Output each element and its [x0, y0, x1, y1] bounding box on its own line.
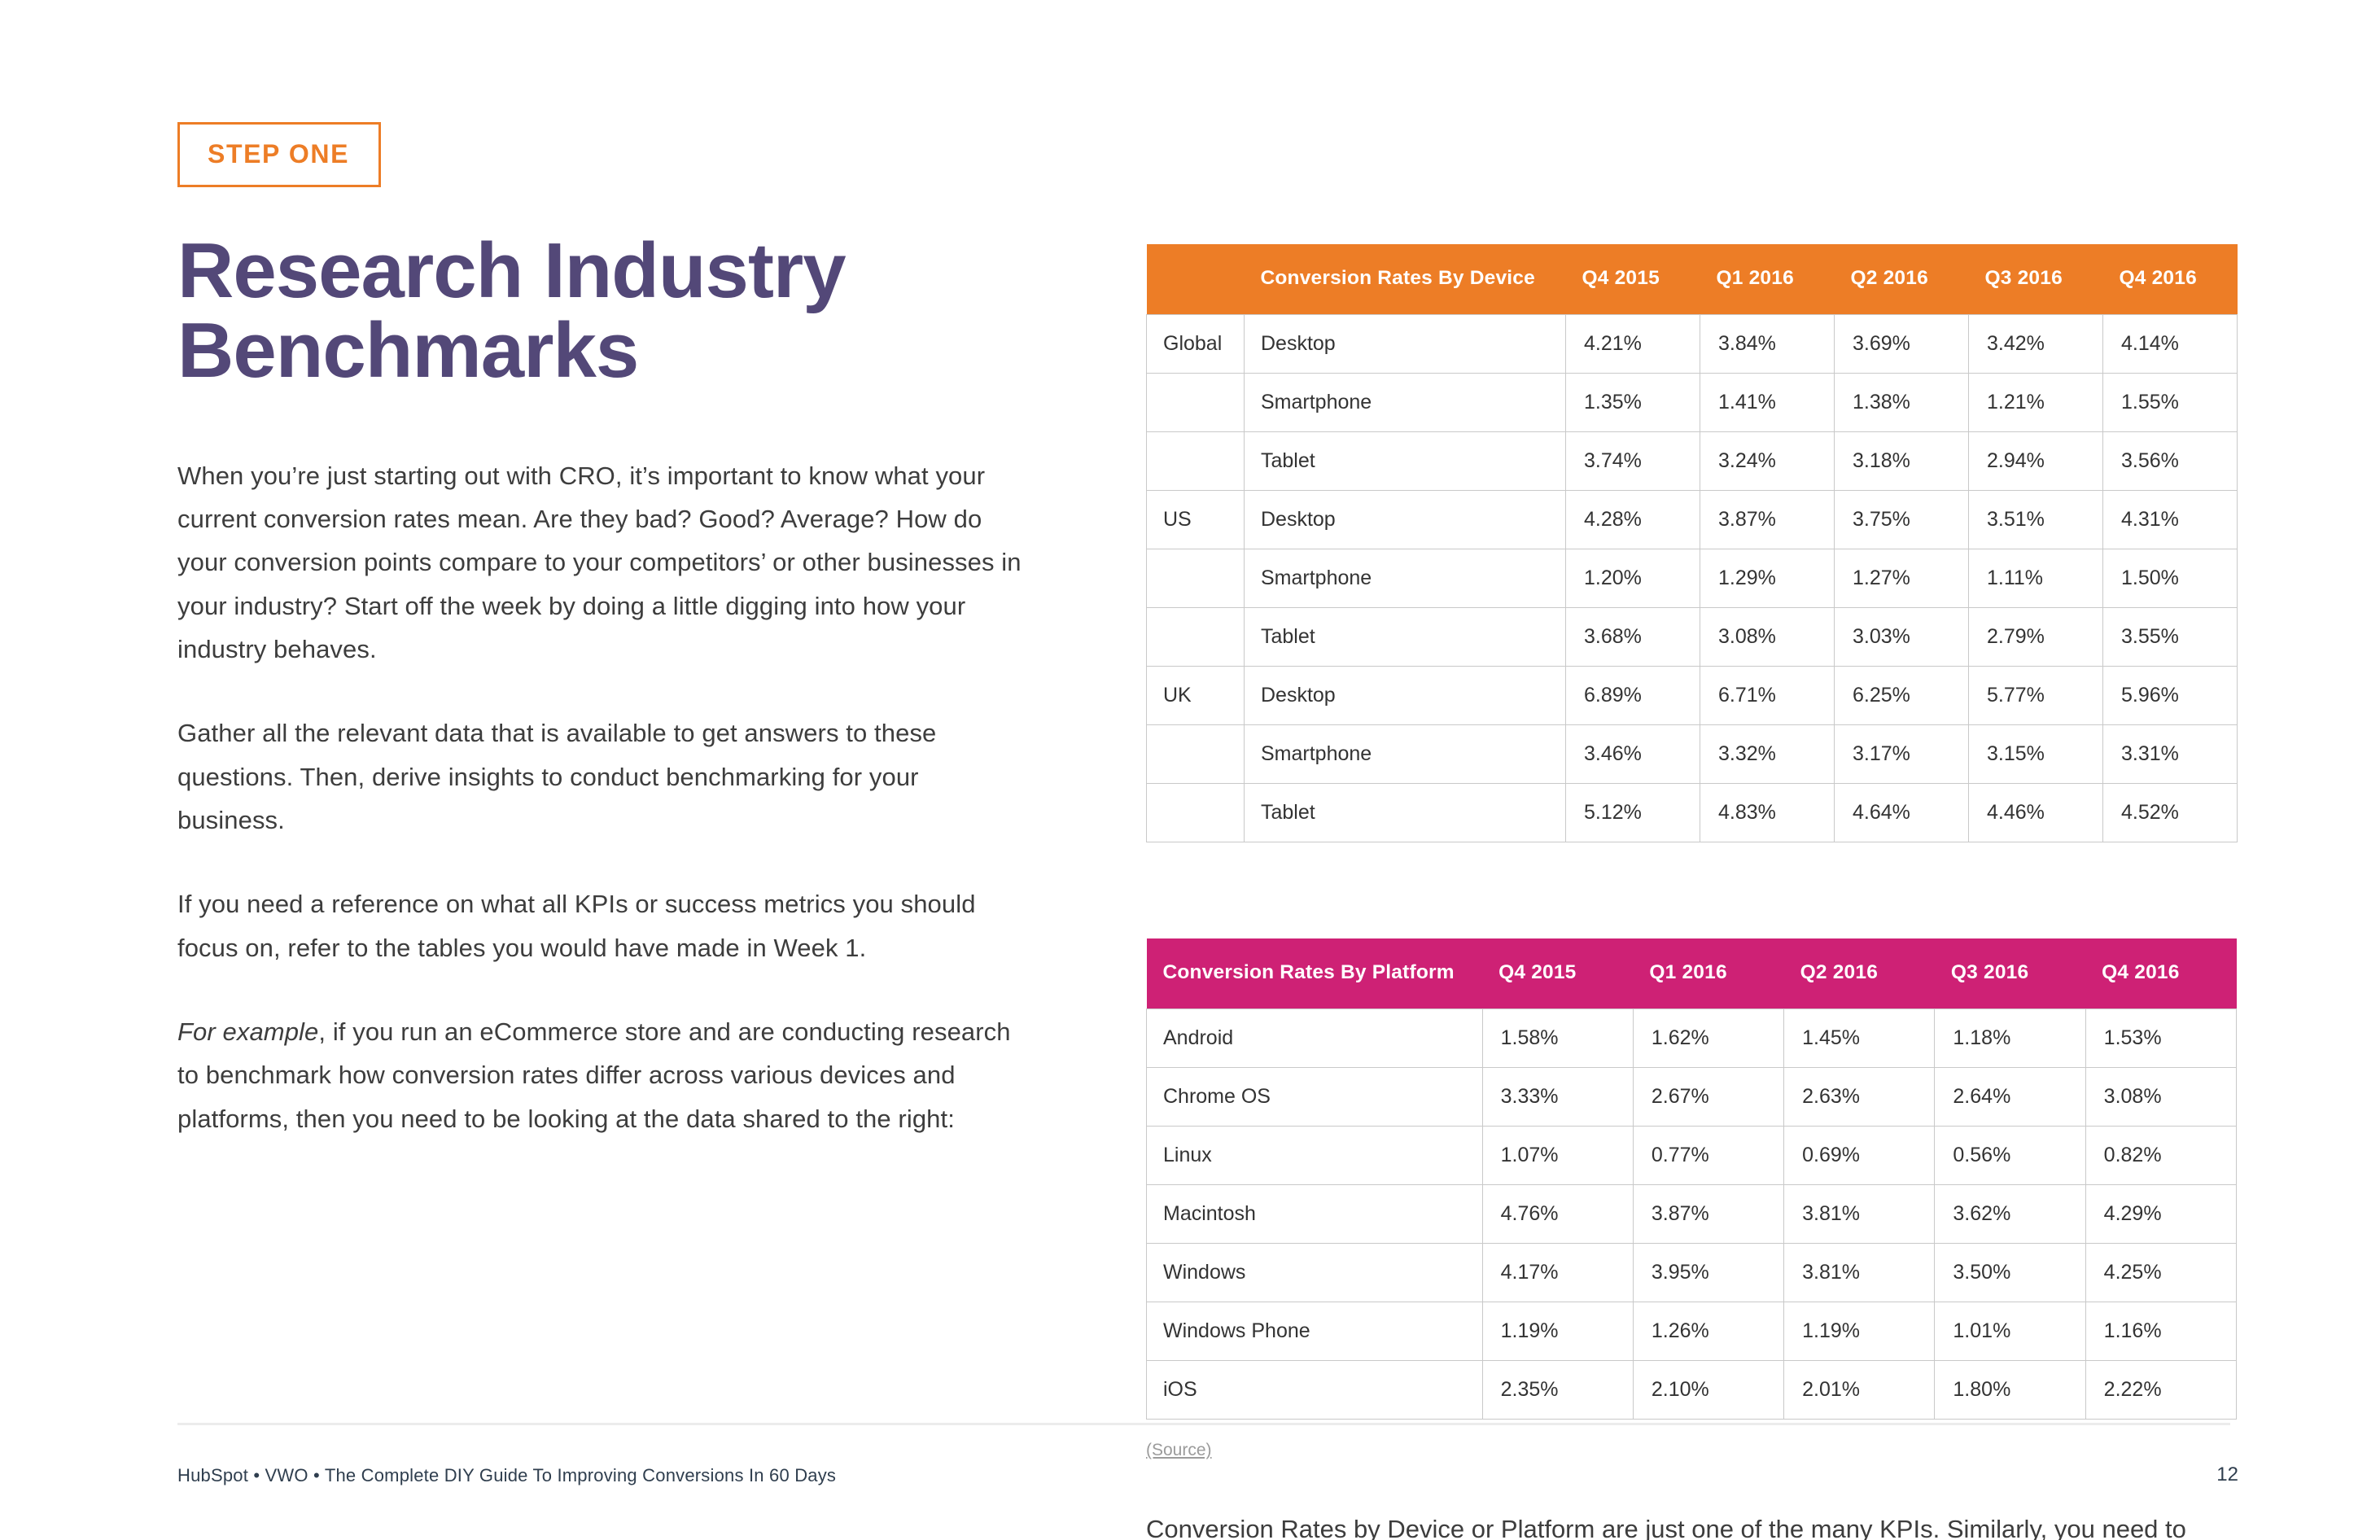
cell-value: 2.94% [1969, 432, 2103, 491]
cell-value: 5.96% [2103, 667, 2238, 725]
conversion-rates-by-device-table: Conversion Rates By Device Q4 2015 Q1 20… [1146, 244, 2238, 842]
table-row: Macintosh 4.76% 3.87% 3.81% 3.62% 4.29% [1147, 1185, 2237, 1244]
table-row: Android 1.58% 1.62% 1.45% 1.18% 1.53% [1147, 1009, 2237, 1068]
body-paragraph-1: When you’re just starting out with CRO, … [177, 454, 1032, 672]
cell-value: 2.35% [1482, 1361, 1633, 1420]
cell-value: 3.03% [1835, 608, 1969, 667]
cell-value: 4.28% [1566, 491, 1700, 549]
cell-device: Smartphone [1245, 549, 1566, 608]
cell-value: 2.64% [1935, 1068, 2085, 1127]
cell-value: 0.82% [2085, 1127, 2236, 1185]
cell-device: Desktop [1245, 315, 1566, 374]
cell-value: 5.77% [1969, 667, 2103, 725]
table-row: Windows 4.17% 3.95% 3.81% 3.50% 4.25% [1147, 1244, 2237, 1302]
cell-value: 1.41% [1700, 374, 1835, 432]
cell-device: Tablet [1245, 608, 1566, 667]
cell-value: 3.17% [1835, 725, 1969, 784]
cell-value: 1.53% [2085, 1009, 2236, 1068]
cell-value: 3.55% [2103, 608, 2238, 667]
table-row: iOS 2.35% 2.10% 2.01% 1.80% 2.22% [1147, 1361, 2237, 1420]
cell-value: 3.87% [1633, 1185, 1783, 1244]
cell-value: 3.95% [1633, 1244, 1783, 1302]
cell-platform: iOS [1147, 1361, 1483, 1420]
device-table-header-q2-2016: Q2 2016 [1835, 244, 1969, 315]
cell-value: 3.69% [1835, 315, 1969, 374]
cell-value: 4.29% [2085, 1185, 2236, 1244]
platform-table-header-q3-2016: Q3 2016 [1935, 938, 2085, 1009]
cell-value: 4.14% [2103, 315, 2238, 374]
cell-value: 3.33% [1482, 1068, 1633, 1127]
table-row: Smartphone 1.20% 1.29% 1.27% 1.11% 1.50% [1147, 549, 2238, 608]
cell-value: 3.84% [1700, 315, 1835, 374]
table-header-row: Conversion Rates By Platform Q4 2015 Q1 … [1147, 938, 2237, 1009]
cell-region [1147, 432, 1245, 491]
cell-region [1147, 725, 1245, 784]
cell-value: 3.24% [1700, 432, 1835, 491]
cell-value: 1.19% [1482, 1302, 1633, 1361]
cell-value: 3.51% [1969, 491, 2103, 549]
cell-value: 1.38% [1835, 374, 1969, 432]
cell-value: 3.50% [1935, 1244, 2085, 1302]
step-badge: STEP ONE [177, 122, 381, 187]
platform-table-header-title: Conversion Rates By Platform [1147, 938, 1483, 1009]
cell-value: 1.35% [1566, 374, 1700, 432]
cell-platform: Windows Phone [1147, 1302, 1483, 1361]
table-row: US Desktop 4.28% 3.87% 3.75% 3.51% 4.31% [1147, 491, 2238, 549]
cell-platform: Android [1147, 1009, 1483, 1068]
cell-value: 6.71% [1700, 667, 1835, 725]
table-row: Chrome OS 3.33% 2.67% 2.63% 2.64% 3.08% [1147, 1068, 2237, 1127]
cell-value: 4.17% [1482, 1244, 1633, 1302]
cell-value: 1.19% [1784, 1302, 1935, 1361]
cell-value: 3.08% [1700, 608, 1835, 667]
left-content-column: STEP ONE Research Industry Benchmarks Wh… [177, 122, 1032, 1140]
cell-device: Tablet [1245, 432, 1566, 491]
table-row: Tablet 5.12% 4.83% 4.64% 4.46% 4.52% [1147, 784, 2238, 842]
device-table-header-blank [1147, 244, 1245, 315]
conversion-rates-by-platform-table: Conversion Rates By Platform Q4 2015 Q1 … [1146, 938, 2237, 1420]
cell-value: 1.26% [1633, 1302, 1783, 1361]
table-row: Smartphone 3.46% 3.32% 3.17% 3.15% 3.31% [1147, 725, 2238, 784]
cell-value: 0.56% [1935, 1127, 2085, 1185]
body-paragraph-4: For example, if you run an eCommerce sto… [177, 1010, 1032, 1140]
table-row: UK Desktop 6.89% 6.71% 6.25% 5.77% 5.96% [1147, 667, 2238, 725]
cell-device: Desktop [1245, 667, 1566, 725]
cell-value: 6.25% [1835, 667, 1969, 725]
cell-value: 3.42% [1969, 315, 2103, 374]
page-title: Research Industry Benchmarks [177, 231, 991, 391]
cell-device: Smartphone [1245, 725, 1566, 784]
cell-value: 1.01% [1935, 1302, 2085, 1361]
cell-value: 1.29% [1700, 549, 1835, 608]
document-page: STEP ONE Research Industry Benchmarks Wh… [0, 0, 2380, 1540]
table-row: Smartphone 1.35% 1.41% 1.38% 1.21% 1.55% [1147, 374, 2238, 432]
platform-table-header-q1-2016: Q1 2016 [1633, 938, 1783, 1009]
cell-value: 0.77% [1633, 1127, 1783, 1185]
cell-platform: Macintosh [1147, 1185, 1483, 1244]
cell-value: 3.15% [1969, 725, 2103, 784]
cell-device: Tablet [1245, 784, 1566, 842]
cell-value: 1.20% [1566, 549, 1700, 608]
cell-value: 1.55% [2103, 374, 2238, 432]
table-row: Global Desktop 4.21% 3.84% 3.69% 3.42% 4… [1147, 315, 2238, 374]
cell-region: Global [1147, 315, 1245, 374]
cell-region [1147, 374, 1245, 432]
cell-value: 3.62% [1935, 1185, 2085, 1244]
cell-platform: Windows [1147, 1244, 1483, 1302]
device-table-header-q3-2016: Q3 2016 [1969, 244, 2103, 315]
cell-value: 3.75% [1835, 491, 1969, 549]
cell-value: 2.67% [1633, 1068, 1783, 1127]
closing-paragraph: Conversion Rates by Device or Platform a… [1146, 1507, 2229, 1540]
cell-value: 1.62% [1633, 1009, 1783, 1068]
cell-value: 1.27% [1835, 549, 1969, 608]
device-table-header-q4-2016: Q4 2016 [2103, 244, 2238, 315]
cell-region [1147, 784, 1245, 842]
platform-table-header-q4-2016: Q4 2016 [2085, 938, 2236, 1009]
cell-value: 4.52% [2103, 784, 2238, 842]
cell-value: 1.50% [2103, 549, 2238, 608]
cell-value: 1.21% [1969, 374, 2103, 432]
cell-platform: Linux [1147, 1127, 1483, 1185]
cell-value: 0.69% [1784, 1127, 1935, 1185]
source-link[interactable]: (Source) [1146, 1441, 1212, 1460]
cell-value: 1.11% [1969, 549, 2103, 608]
table-row: Linux 1.07% 0.77% 0.69% 0.56% 0.82% [1147, 1127, 2237, 1185]
table-header-row: Conversion Rates By Device Q4 2015 Q1 20… [1147, 244, 2238, 315]
cell-device: Smartphone [1245, 374, 1566, 432]
cell-region: US [1147, 491, 1245, 549]
device-table-header-q4-2015: Q4 2015 [1566, 244, 1700, 315]
cell-value: 3.31% [2103, 725, 2238, 784]
cell-value: 6.89% [1566, 667, 1700, 725]
cell-value: 3.46% [1566, 725, 1700, 784]
cell-value: 2.22% [2085, 1361, 2236, 1420]
cell-region: UK [1147, 667, 1245, 725]
cell-value: 1.58% [1482, 1009, 1633, 1068]
cell-value: 3.08% [2085, 1068, 2236, 1127]
page-number: 12 [2190, 1463, 2238, 1486]
cell-value: 1.45% [1784, 1009, 1935, 1068]
page-title-line-2: Benchmarks [177, 311, 991, 391]
cell-value: 3.56% [2103, 432, 2238, 491]
cell-value: 3.74% [1566, 432, 1700, 491]
cell-value: 4.25% [2085, 1244, 2236, 1302]
cell-value: 3.81% [1784, 1244, 1935, 1302]
cell-region [1147, 549, 1245, 608]
cell-value: 1.18% [1935, 1009, 2085, 1068]
cell-value: 4.46% [1969, 784, 2103, 842]
cell-platform: Chrome OS [1147, 1068, 1483, 1127]
table-row: Windows Phone 1.19% 1.26% 1.19% 1.01% 1.… [1147, 1302, 2237, 1361]
table-row: Tablet 3.68% 3.08% 3.03% 2.79% 3.55% [1147, 608, 2238, 667]
cell-value: 2.01% [1784, 1361, 1935, 1420]
right-content-column: Conversion Rates By Device Q4 2015 Q1 20… [1146, 244, 2237, 1540]
cell-device: Desktop [1245, 491, 1566, 549]
device-table-header-title: Conversion Rates By Device [1245, 244, 1566, 315]
cell-value: 5.12% [1566, 784, 1700, 842]
cell-value: 1.07% [1482, 1127, 1633, 1185]
cell-value: 3.68% [1566, 608, 1700, 667]
cell-value: 2.63% [1784, 1068, 1935, 1127]
cell-value: 1.80% [1935, 1361, 2085, 1420]
cell-value: 2.79% [1969, 608, 2103, 667]
table-row: Tablet 3.74% 3.24% 3.18% 2.94% 3.56% [1147, 432, 2238, 491]
body-paragraph-3: If you need a reference on what all KPIs… [177, 882, 1032, 969]
cell-value: 4.76% [1482, 1185, 1633, 1244]
cell-value: 4.21% [1566, 315, 1700, 374]
page-title-line-1: Research Industry [177, 231, 991, 311]
body-paragraph-2: Gather all the relevant data that is ava… [177, 711, 1032, 842]
example-emphasis: For example [177, 1017, 318, 1046]
cell-value: 4.31% [2103, 491, 2238, 549]
cell-value: 3.81% [1784, 1185, 1935, 1244]
cell-value: 3.18% [1835, 432, 1969, 491]
table-spacer [1146, 842, 2237, 938]
platform-table-header-q2-2016: Q2 2016 [1784, 938, 1935, 1009]
cell-value: 4.83% [1700, 784, 1835, 842]
step-badge-label: STEP ONE [208, 141, 349, 167]
cell-value: 3.32% [1700, 725, 1835, 784]
device-table-header-q1-2016: Q1 2016 [1700, 244, 1835, 315]
cell-value: 2.10% [1633, 1361, 1783, 1420]
cell-value: 3.87% [1700, 491, 1835, 549]
cell-value: 4.64% [1835, 784, 1969, 842]
platform-table-header-q4-2015: Q4 2015 [1482, 938, 1633, 1009]
footer-text: HubSpot • VWO • The Complete DIY Guide T… [177, 1465, 836, 1486]
footer-divider [177, 1423, 2230, 1425]
cell-region [1147, 608, 1245, 667]
cell-value: 1.16% [2085, 1302, 2236, 1361]
